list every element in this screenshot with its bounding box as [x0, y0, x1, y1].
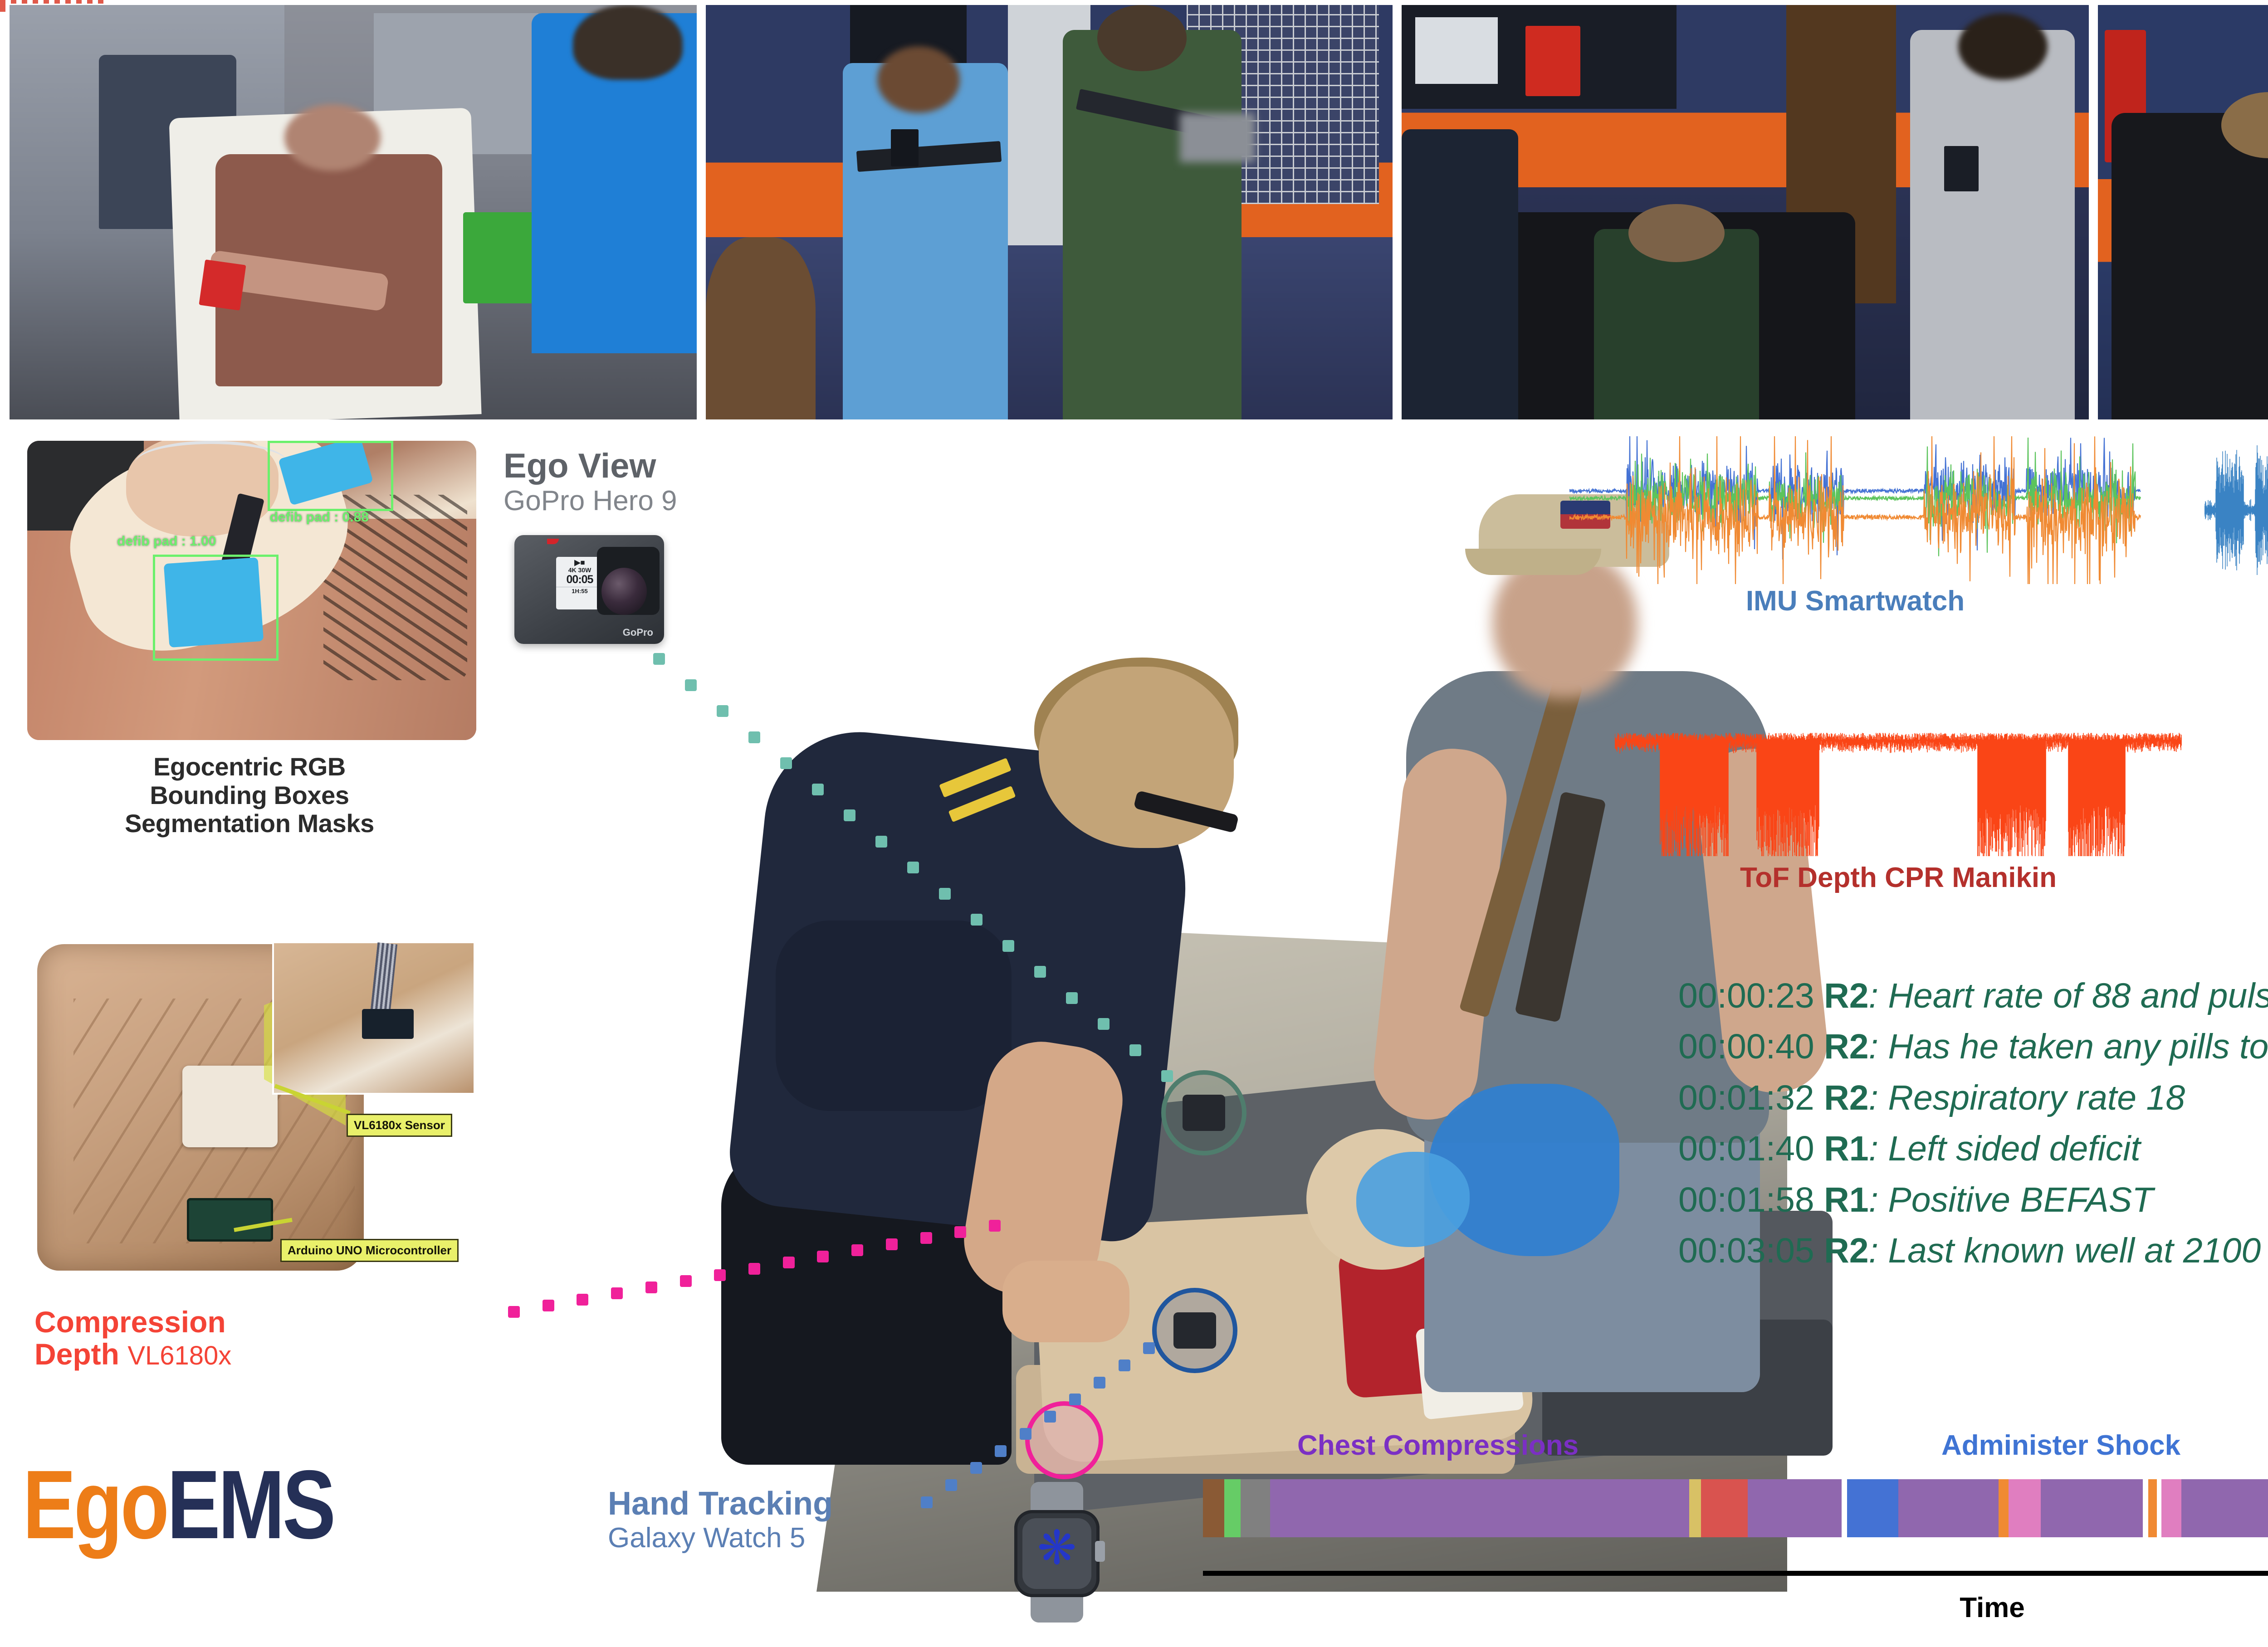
stereo-audio-plot [2204, 435, 2268, 585]
transcript-heading-line-2: Transcript with [2254, 778, 2268, 817]
transcript-utterance: : Left sided deficit [1869, 1129, 2141, 1168]
transcript-list: 00:00:23 R2: Heart rate of 88 and pulse … [1678, 970, 2268, 1276]
photo-strip [8, 4, 2268, 421]
compression-depth-hardware-image: VL6180x Sensor Arduino UNO Microcontroll… [21, 934, 479, 1288]
transcript-speaker: R2 [1824, 1078, 1868, 1117]
galaxy-watch-icon: ❋ [1002, 1482, 1111, 1623]
bbox-label-lower: defib pad : 1.00 [117, 534, 216, 549]
logo-ems-text: EMS [167, 1450, 333, 1559]
keystep-segment[interactable] [1224, 1479, 1241, 1537]
gopro-brand-label: GoPro [623, 627, 653, 638]
photo-ambulance-patient-assessment [8, 4, 698, 421]
transcript-speaker: R2 [1824, 976, 1868, 1015]
time-axis-label: Time [1203, 1592, 2268, 1624]
cpr-training-scene-illustration [708, 467, 1787, 1592]
keystep-segment[interactable] [2148, 1479, 2157, 1537]
transcript-heading-line-3: Speaker Diarization [2254, 817, 2268, 856]
tof-depth-label: ToF Depth CPR Manikin [1597, 862, 2200, 894]
transcript-timestamp: 00:01:40 [1678, 1129, 1824, 1168]
gopro-camera-icon: ▶■ 4K 30W 00:05 1H:55 GoPro [514, 535, 664, 644]
photo-gym-floor-patient-care [2097, 4, 2268, 421]
marker-smartwatch [1152, 1288, 1237, 1373]
egocentric-rgb-sample-image: defib pad : 0.88 defib pad : 1.00 [27, 441, 476, 740]
keystep-segment[interactable] [1270, 1479, 1690, 1537]
keystep-segment[interactable] [2009, 1479, 2041, 1537]
keystep-segment[interactable] [1842, 1479, 1847, 1537]
camera-lens-icon [601, 568, 647, 615]
legend-administer-shock: Administer Shock [1941, 1429, 2180, 1466]
bag-valve-mask [1356, 1084, 1619, 1274]
caption-line-2: Bounding Boxes [9, 781, 490, 810]
keystep-segment[interactable] [1689, 1479, 1701, 1537]
poster-canvas: defib pad : 0.88 defib pad : 1.00 Egocen… [0, 0, 2268, 1647]
compression-depth-sensor-name: VL6180x [127, 1341, 231, 1370]
keysteps-timeline-bar[interactable] [1203, 1479, 2268, 1537]
transcript-line: 00:00:40 R2: Has he taken any pills toda… [1678, 1021, 2268, 1072]
keystep-segment[interactable] [2161, 1479, 2181, 1537]
bounding-box-lower [153, 555, 279, 661]
keystep-segment[interactable] [1898, 1479, 1999, 1537]
keystep-segment[interactable] [2041, 1479, 2142, 1537]
compression-depth-title: Compression Depth VL6180x [34, 1306, 443, 1371]
transcript-timestamp: 00:03:05 [1678, 1231, 1824, 1270]
marker-chest-camera [1161, 1070, 1246, 1155]
vl6180x-sensor-inset [272, 941, 475, 1095]
legend-chest-compressions: Chest Compressions [1297, 1429, 1579, 1466]
transcript-heading-line-1: Timestamped Audio [2254, 739, 2268, 778]
primary-responder-doing-compressions [721, 667, 1320, 1483]
hand-tracking-device: Galaxy Watch 5 [608, 1520, 989, 1557]
keystep-segment[interactable] [1203, 1479, 1224, 1537]
keystep-segment[interactable] [1847, 1479, 1898, 1537]
tag-vl6180x-sensor: VL6180x Sensor [347, 1114, 452, 1137]
keystep-segment[interactable] [1241, 1479, 1270, 1537]
caption-line-1: Egocentric RGB [9, 753, 490, 781]
imu-smartwatch-plot [1569, 435, 2141, 585]
logo-ego-text: Ego [23, 1450, 167, 1559]
bounding-box-upper [268, 441, 393, 511]
transcript-speaker: R1 [1824, 1129, 1868, 1168]
stereo-audio-label: Stereo Audio [2204, 585, 2268, 617]
imu-smartwatch-label: IMU Smartwatch [1569, 585, 2141, 617]
photo-living-room-simulation-observer [1400, 4, 2090, 421]
transcript-timestamp: 00:01:58 [1678, 1180, 1824, 1219]
keystep-segment[interactable] [1748, 1479, 1842, 1537]
hand-tracking-title: Hand Tracking [608, 1487, 989, 1520]
caption-line-3: Segmentation Masks [9, 809, 490, 838]
gopro-mode-icon: ▶■ [556, 559, 603, 567]
compression-depth-line-1: Compression [34, 1306, 443, 1338]
time-axis-arrow [1203, 1568, 2268, 1576]
transcript-speaker: R2 [1824, 1027, 1868, 1066]
photo-bay-providers-chest-cameras [704, 4, 1394, 421]
transcript-line: 00:01:32 R2: Respiratory rate 18 [1678, 1072, 2268, 1123]
tag-arduino-uno: Arduino UNO Microcontroller [280, 1239, 459, 1262]
gopro-resolution: 4K 30W [556, 567, 603, 574]
transcript-utterance: : Respiratory rate 18 [1869, 1078, 2185, 1117]
transcript-utterance: : Last known well at 2100 [1869, 1231, 2261, 1270]
tof-depth-plot [1615, 707, 2182, 857]
transcript-line: 00:01:40 R1: Left sided deficit [1678, 1123, 2268, 1174]
transcript-timestamp: 00:01:32 [1678, 1078, 1824, 1117]
transcript-speaker: R2 [1824, 1231, 1868, 1270]
egoems-logo: EgoEMS [23, 1456, 480, 1553]
bbox-label-upper: defib pad : 0.88 [270, 510, 369, 525]
compression-depth-line-2: Depth [34, 1337, 119, 1371]
gopro-timecode: 00:05 [556, 574, 603, 585]
transcript-timestamp: 00:00:40 [1678, 1027, 1824, 1066]
keystep-segment[interactable] [2157, 1479, 2161, 1537]
transcript-utterance: : Heart rate of 88 and pulse ox at 95 [1869, 976, 2268, 1015]
marker-depth-sensor [1025, 1401, 1103, 1479]
keystep-segment[interactable] [1999, 1479, 2009, 1537]
transcript-heading: Timestamped Audio Transcript with Speake… [2254, 739, 2268, 856]
egocentric-rgb-caption: Egocentric RGB Bounding Boxes Segmentati… [9, 753, 490, 838]
keystep-segment[interactable] [2181, 1479, 2268, 1537]
transcript-timestamp: 00:00:23 [1678, 976, 1824, 1015]
transcript-utterance: : Positive BEFAST [1869, 1180, 2154, 1219]
hand-tracking-heading: Hand Tracking Galaxy Watch 5 [608, 1487, 989, 1557]
star-of-life-icon: ❋ [1037, 1529, 1077, 1578]
transcript-speaker: R1 [1824, 1180, 1868, 1219]
keystep-segment[interactable] [1701, 1479, 1748, 1537]
transcript-line: 00:03:05 R2: Last known well at 2100 [1678, 1225, 2268, 1276]
transcript-line: 00:00:23 R2: Heart rate of 88 and pulse … [1678, 970, 2268, 1021]
gopro-card-remaining: 1H:55 [556, 587, 603, 594]
gopro-lcd-screen: ▶■ 4K 30W 00:05 1H:55 [556, 557, 603, 609]
transcript-utterance: : Has he taken any pills today? [1869, 1027, 2268, 1066]
transcript-line: 00:01:58 R1: Positive BEFAST [1678, 1174, 2268, 1225]
keystep-segment[interactable] [2143, 1479, 2148, 1537]
